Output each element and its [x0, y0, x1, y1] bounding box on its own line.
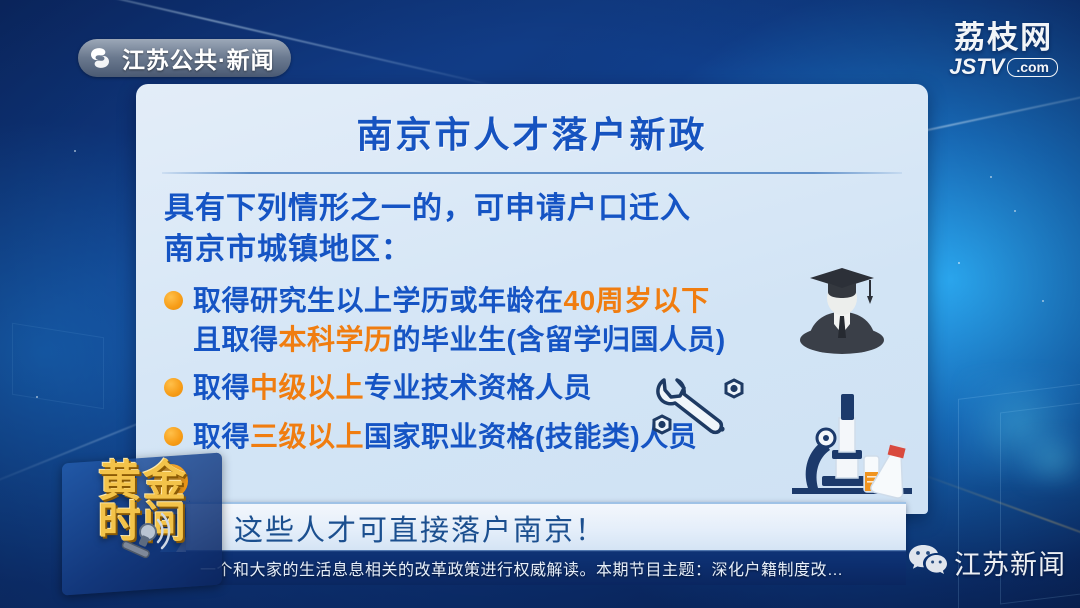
- list-item: 取得三级以上国家职业资格(技能类)人员: [164, 418, 900, 457]
- bullet-dot-icon: [164, 291, 183, 310]
- bullet-row: 取得研究生以上学历或年龄在40周岁以下: [164, 282, 900, 321]
- lower-third-headline: 这些人才可直接落户南京！: [234, 507, 606, 549]
- intro-line-2: 南京市城镇地区：: [164, 229, 900, 270]
- news-ticker-text: 一个和大家的生活息息相关的改革政策进行权威解读。本期节目主题：深化户籍制度改…: [200, 556, 844, 580]
- social-watermark: 江苏新闻: [908, 543, 1066, 582]
- bullet-3-line-1: 取得三级以上国家职业资格(技能类)人员: [193, 418, 697, 457]
- policy-info-card: 南京市人才落户新政 具有下列情形之一的，可申请户口迁入 南京市城镇地区： 取得研…: [136, 84, 928, 514]
- bullet-text-segment: 专业技术资格人员: [364, 372, 592, 403]
- broadcast-screen: 江苏公共·新闻 荔枝网 JSTV .com 南京市人才落户新政 具有下列情形之一…: [0, 0, 1080, 608]
- news-ticker: 一个和大家的生活息息相关的改革政策进行权威解读。本期节目主题：深化户籍制度改…: [186, 550, 906, 585]
- bullet-1-line-1: 取得研究生以上学历或年龄在40周岁以下: [193, 282, 710, 321]
- bullet-text-highlight: 中级以上: [250, 372, 364, 403]
- social-watermark-label: 江苏新闻: [954, 543, 1066, 582]
- bullet-text-highlight: 三级以上: [250, 421, 364, 452]
- wrench-and-nuts-icon: [646, 372, 750, 446]
- channel-logo: 江苏公共·新闻: [78, 39, 291, 77]
- microscope-and-testtubes-icon: [792, 384, 912, 502]
- microphone-icon: [118, 512, 180, 568]
- lower-third-bar: 这些人才可直接落户南京！: [186, 502, 906, 552]
- channel-logo-label: 江苏公共·新闻: [122, 41, 275, 75]
- program-logo: 黄金 时间: [62, 458, 222, 590]
- network-watermark-cn: 荔枝网: [949, 22, 1058, 53]
- bullet-text-segment: 取得: [193, 421, 250, 452]
- list-item: 取得中级以上专业技术资格人员: [164, 369, 900, 408]
- bullet-row: 取得中级以上专业技术资格人员: [164, 369, 900, 408]
- bullet-row: 取得三级以上国家职业资格(技能类)人员: [164, 418, 900, 457]
- network-watermark: 荔枝网 JSTV .com: [949, 22, 1058, 78]
- network-watermark-en: JSTV: [949, 56, 1004, 78]
- bullet-text-highlight: 本科学历: [279, 324, 393, 355]
- wechat-icon: [908, 543, 948, 582]
- network-watermark-domain: .com: [1007, 58, 1058, 77]
- bullet-text-segment: 取得: [193, 372, 250, 403]
- bullet-text-segment: 的毕业生(含留学归国人员): [393, 324, 726, 355]
- bullet-text-segment: 取得研究生以上学历或年龄在: [193, 285, 564, 316]
- bullet-text-segment: 且取得: [193, 324, 279, 355]
- page-title: 南京市人才落户新政: [136, 106, 928, 158]
- water-drop-icon: [87, 45, 113, 71]
- intro-line-1: 具有下列情形之一的，可申请户口迁入: [164, 188, 900, 229]
- bullet-2-line-1: 取得中级以上专业技术资格人员: [193, 369, 592, 408]
- bullet-dot-icon: [164, 427, 183, 446]
- list-item: 取得研究生以上学历或年龄在40周岁以下 且取得本科学历的毕业生(含留学归国人员): [164, 282, 900, 359]
- bullet-list: 取得研究生以上学历或年龄在40周岁以下 且取得本科学历的毕业生(含留学归国人员)…: [164, 282, 900, 457]
- bullet-dot-icon: [164, 378, 183, 397]
- graduate-icon: [794, 262, 890, 354]
- network-watermark-en-row: JSTV .com: [949, 56, 1058, 78]
- bullet-text-highlight: 40周岁以下: [564, 285, 710, 316]
